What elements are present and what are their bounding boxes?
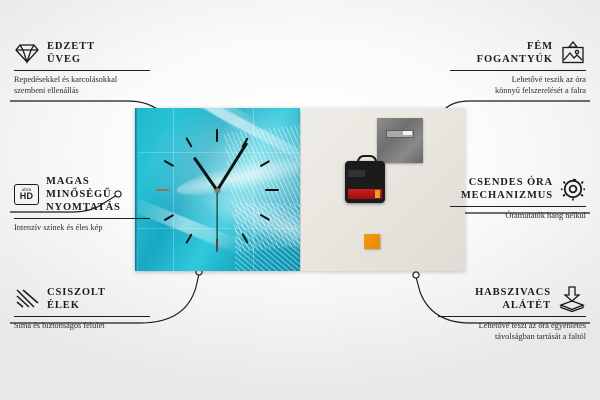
clock-movement [345,161,385,203]
feature-silent-mechanism: CSENDES ÓRA MECHANIZMUS Óramutatók hang … [450,176,586,222]
feature-title: MAGAS MINŐSÉGŰ NYOMTATÁS [46,175,150,214]
feature-title: CSENDES ÓRA MECHANIZMUS [461,176,553,202]
clock-second-hand [216,191,217,241]
feature-description: Óramutatók hang nélkül [450,207,586,222]
infographic-canvas: EDZETT ÜVEG Repedésekkel és karcolásokka… [0,0,600,400]
feature-description: Lehetővé teszi az óra egyenletes távolsá… [438,317,586,342]
gear-icon [560,177,586,201]
feature-title: FÉM FOGANTYÚK [477,40,553,66]
diamond-icon [14,42,40,64]
metal-hanger-plate [377,118,423,163]
feature-title: CSISZOLT ÉLEK [47,286,106,312]
battery [348,189,382,199]
feature-high-quality-print: ultra HD MAGAS MINŐSÉGŰ NYOMTATÁS Intenz… [14,175,150,234]
press-down-pad-icon [558,286,586,312]
clock-front-view [135,108,300,271]
feature-metal-handles: FÉM FOGANTYÚK Lehetővé teszik az óra kön… [450,40,586,96]
connector-dot-foam [413,272,419,278]
feature-description: Lehetővé teszik az óra könnyű felszerelé… [450,71,586,96]
feature-polished-edges: CSISZOLT ÉLEK Sima és biztonságos felüle… [14,286,150,332]
feature-description: Intenzív színek és éles kép [14,219,150,234]
clock-back-view [301,108,465,271]
picture-hanger-icon [560,41,586,65]
ultra-hd-badge-icon: ultra HD [14,184,39,205]
feature-tempered-glass: EDZETT ÜVEG Repedésekkel és karcolásokka… [14,40,150,96]
polished-edge-lines-icon [14,288,40,310]
feature-description: Sima és biztonságos felület [14,317,150,332]
feature-foam-pad: HABSZIVACS ALÁTÉT Lehetővé teszi az óra … [438,286,586,342]
feature-description: Repedésekkel és karcolásokkal szembeni e… [14,71,150,96]
feature-title: HABSZIVACS ALÁTÉT [475,286,551,312]
feature-title: EDZETT ÜVEG [47,40,95,66]
product-photo [135,108,465,271]
clock-center-hub [215,188,220,193]
foam-spacer-pad [364,234,380,249]
